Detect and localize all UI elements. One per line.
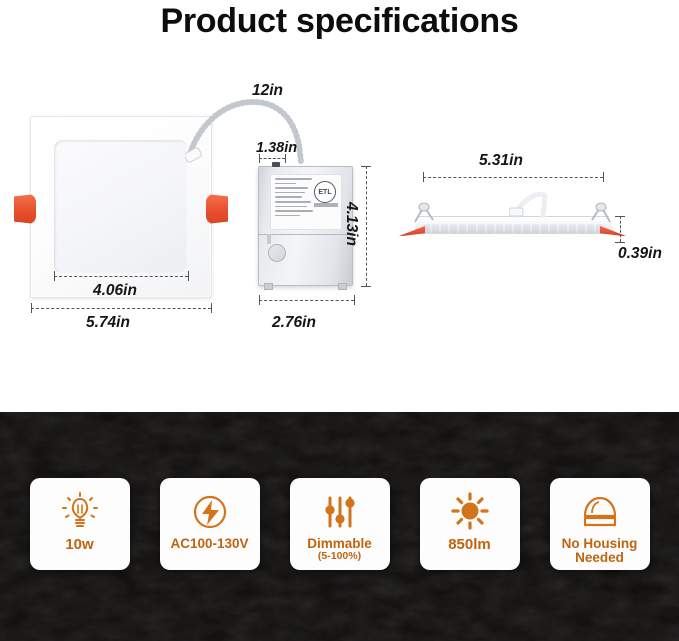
badge-label: 10w: [65, 537, 93, 553]
badge-sublabel: (5-100%): [318, 551, 361, 563]
dimension-driver-top-width: 1.38in: [256, 140, 297, 156]
measure-tick: [354, 295, 355, 305]
badge-dimmable[interactable]: Dimmable (5-100%): [290, 478, 390, 570]
dimension-driver-height: 4.13in: [342, 202, 360, 246]
driver-slot: [267, 234, 271, 244]
measure-line-inner: [54, 276, 188, 277]
page-title: Product specifications: [0, 2, 679, 41]
spring-clip-right: [206, 194, 228, 224]
measure-line-thickness: [620, 216, 621, 242]
product-spec-image: Product specifications 4.06in 5.74in 12i…: [0, 0, 679, 641]
driver-spec-label: ETL: [270, 174, 342, 230]
driver-seam: [258, 234, 353, 235]
sliders-icon: [318, 489, 362, 535]
mounting-bracket-left: [411, 202, 437, 224]
driver-foot: [264, 283, 273, 290]
measure-tick: [603, 172, 604, 182]
panel-diffuser: [54, 140, 188, 274]
etl-certification-mark: ETL: [314, 181, 336, 203]
dimension-driver-width: 2.76in: [272, 314, 316, 332]
badge-voltage[interactable]: AC100-130V: [160, 478, 260, 570]
led-fin-row: [423, 224, 603, 233]
measure-tick: [31, 303, 32, 313]
power-bolt-icon: [188, 489, 232, 535]
driver-foot: [338, 283, 347, 290]
measure-tick: [361, 166, 371, 167]
badge-label: Dimmable: [307, 537, 372, 551]
measure-tick: [211, 303, 212, 313]
measure-tick: [259, 295, 260, 305]
dimension-side-thickness: 0.39in: [618, 245, 662, 263]
driver-box-diagram: ETL: [258, 166, 353, 286]
measure-tick: [54, 271, 55, 281]
sun-icon: [448, 489, 492, 535]
measure-tick: [423, 172, 424, 182]
dimension-side-width: 5.31in: [479, 152, 523, 170]
mounting-bracket-right: [588, 202, 614, 224]
measure-tick: [615, 216, 625, 217]
measure-tick: [615, 242, 625, 243]
dimension-inner-width: 4.06in: [93, 282, 137, 300]
dimension-cable-length: 12in: [252, 82, 283, 100]
measure-line-driver-height: [366, 166, 367, 286]
badge-row: 10w AC100-130V: [0, 478, 679, 570]
badge-no-housing[interactable]: No Housing Needed: [550, 478, 650, 570]
feature-badge-area: 10w AC100-130V: [0, 412, 679, 641]
side-view-diagram: [405, 196, 620, 244]
measure-line-side-width: [423, 177, 603, 178]
badge-label: 850lm: [448, 537, 491, 553]
dimension-outer-width: 5.74in: [86, 314, 130, 332]
measure-line-driver-top: [259, 158, 285, 159]
measure-tick: [361, 286, 371, 287]
driver-cable: [185, 96, 315, 168]
measure-line-outer: [31, 308, 211, 309]
driver-cable-entry: [272, 162, 280, 167]
badge-wattage[interactable]: 10w: [30, 478, 130, 570]
badge-label: AC100-130V: [170, 537, 248, 551]
dome-housing-icon: [578, 489, 622, 535]
spring-clip-left: [14, 194, 36, 224]
side-cable-stem: [509, 192, 553, 218]
driver-knockout: [268, 244, 286, 262]
side-spring-clip-left: [399, 226, 425, 236]
lightbulb-icon: [58, 489, 102, 535]
measure-tick: [188, 271, 189, 281]
badge-label: No Housing Needed: [562, 537, 638, 566]
spec-diagram-area: Product specifications 4.06in 5.74in 12i…: [0, 0, 679, 412]
measure-line-driver-width: [259, 300, 354, 301]
etl-subtext: [314, 203, 338, 207]
badge-lumens[interactable]: 850lm: [420, 478, 520, 570]
